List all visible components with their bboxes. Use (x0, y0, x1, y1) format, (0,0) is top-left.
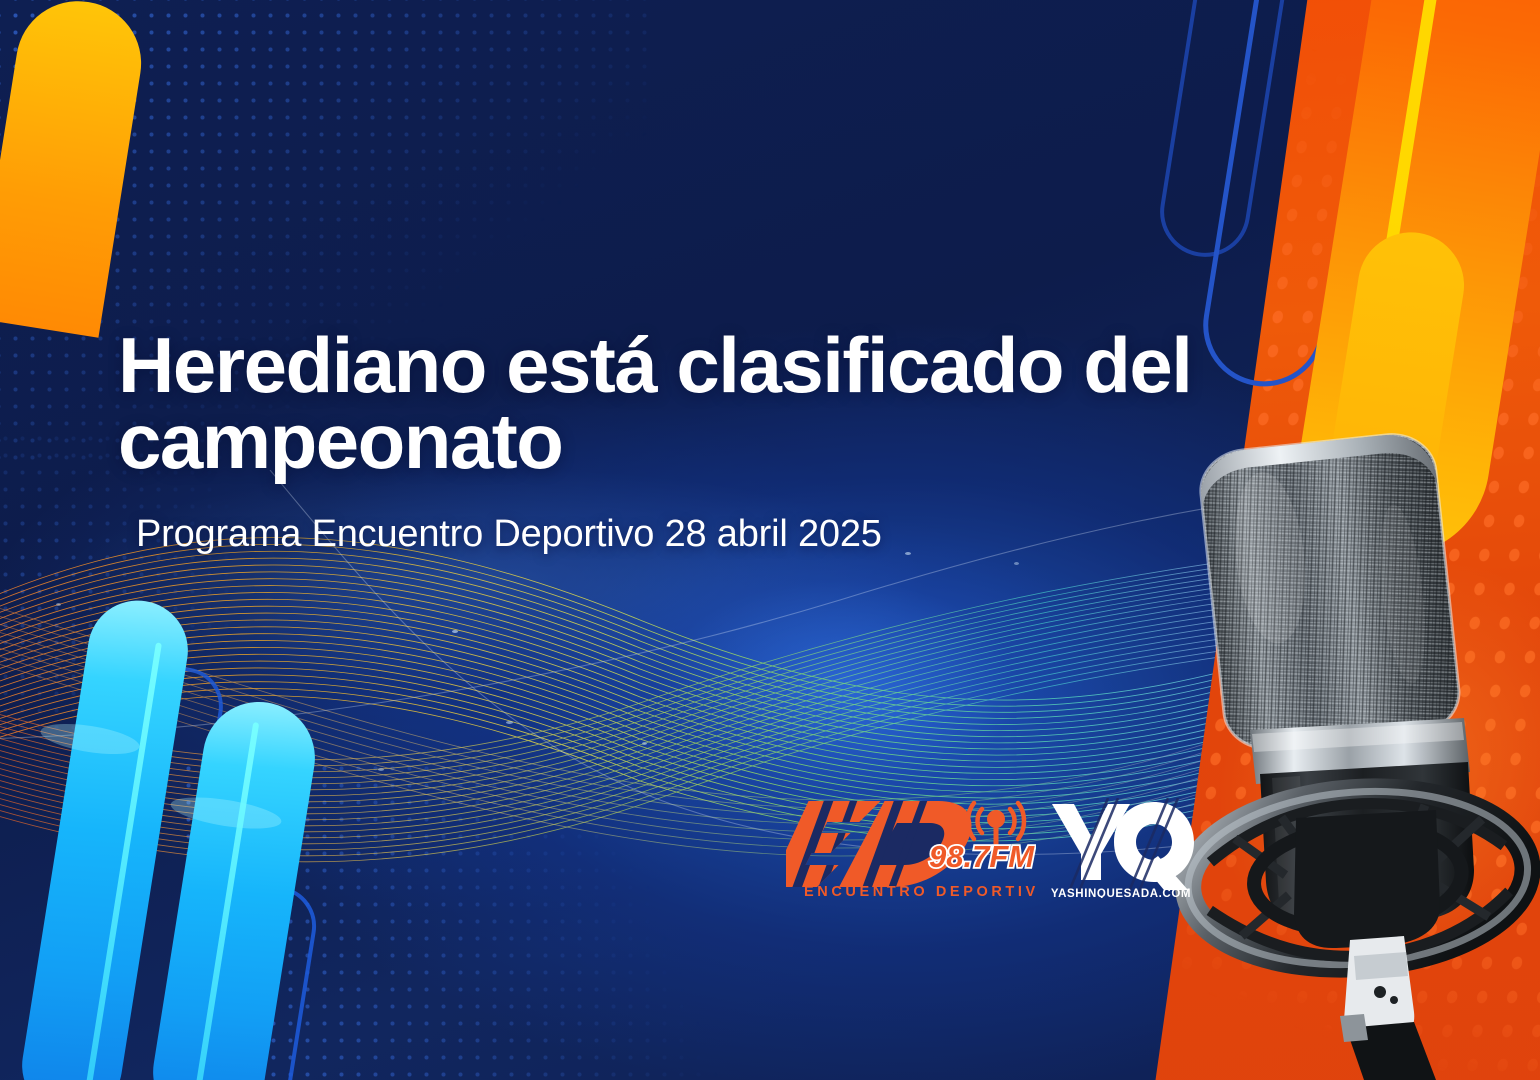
studio-microphone (1168, 400, 1540, 1080)
station-logo: 98.7FM ENCUENTRO DEPORTIVO (786, 795, 1036, 900)
sparkle (452, 630, 458, 633)
sparkle (56, 603, 61, 606)
sparkle (506, 721, 513, 724)
station-frequency-text: 98.7FM (929, 839, 1035, 874)
sparkle (1014, 562, 1019, 565)
gold-bar-bottom-right (0, 0, 150, 338)
page-title: Herediano está clasificado del campeonat… (118, 327, 1358, 480)
sparkle (378, 768, 384, 771)
sparkle (642, 742, 647, 745)
personal-logo: YASHINQUESADA.COM (1046, 798, 1196, 898)
personal-website-text: YASHINQUESADA.COM (1051, 888, 1191, 898)
sparkle (905, 552, 911, 555)
promo-banner: Herediano está clasificado del campeonat… (0, 0, 1540, 1080)
station-tagline-text: ENCUENTRO DEPORTIVO (804, 884, 1036, 900)
page-subtitle: Programa Encuentro Deportivo 28 abril 20… (136, 513, 882, 556)
